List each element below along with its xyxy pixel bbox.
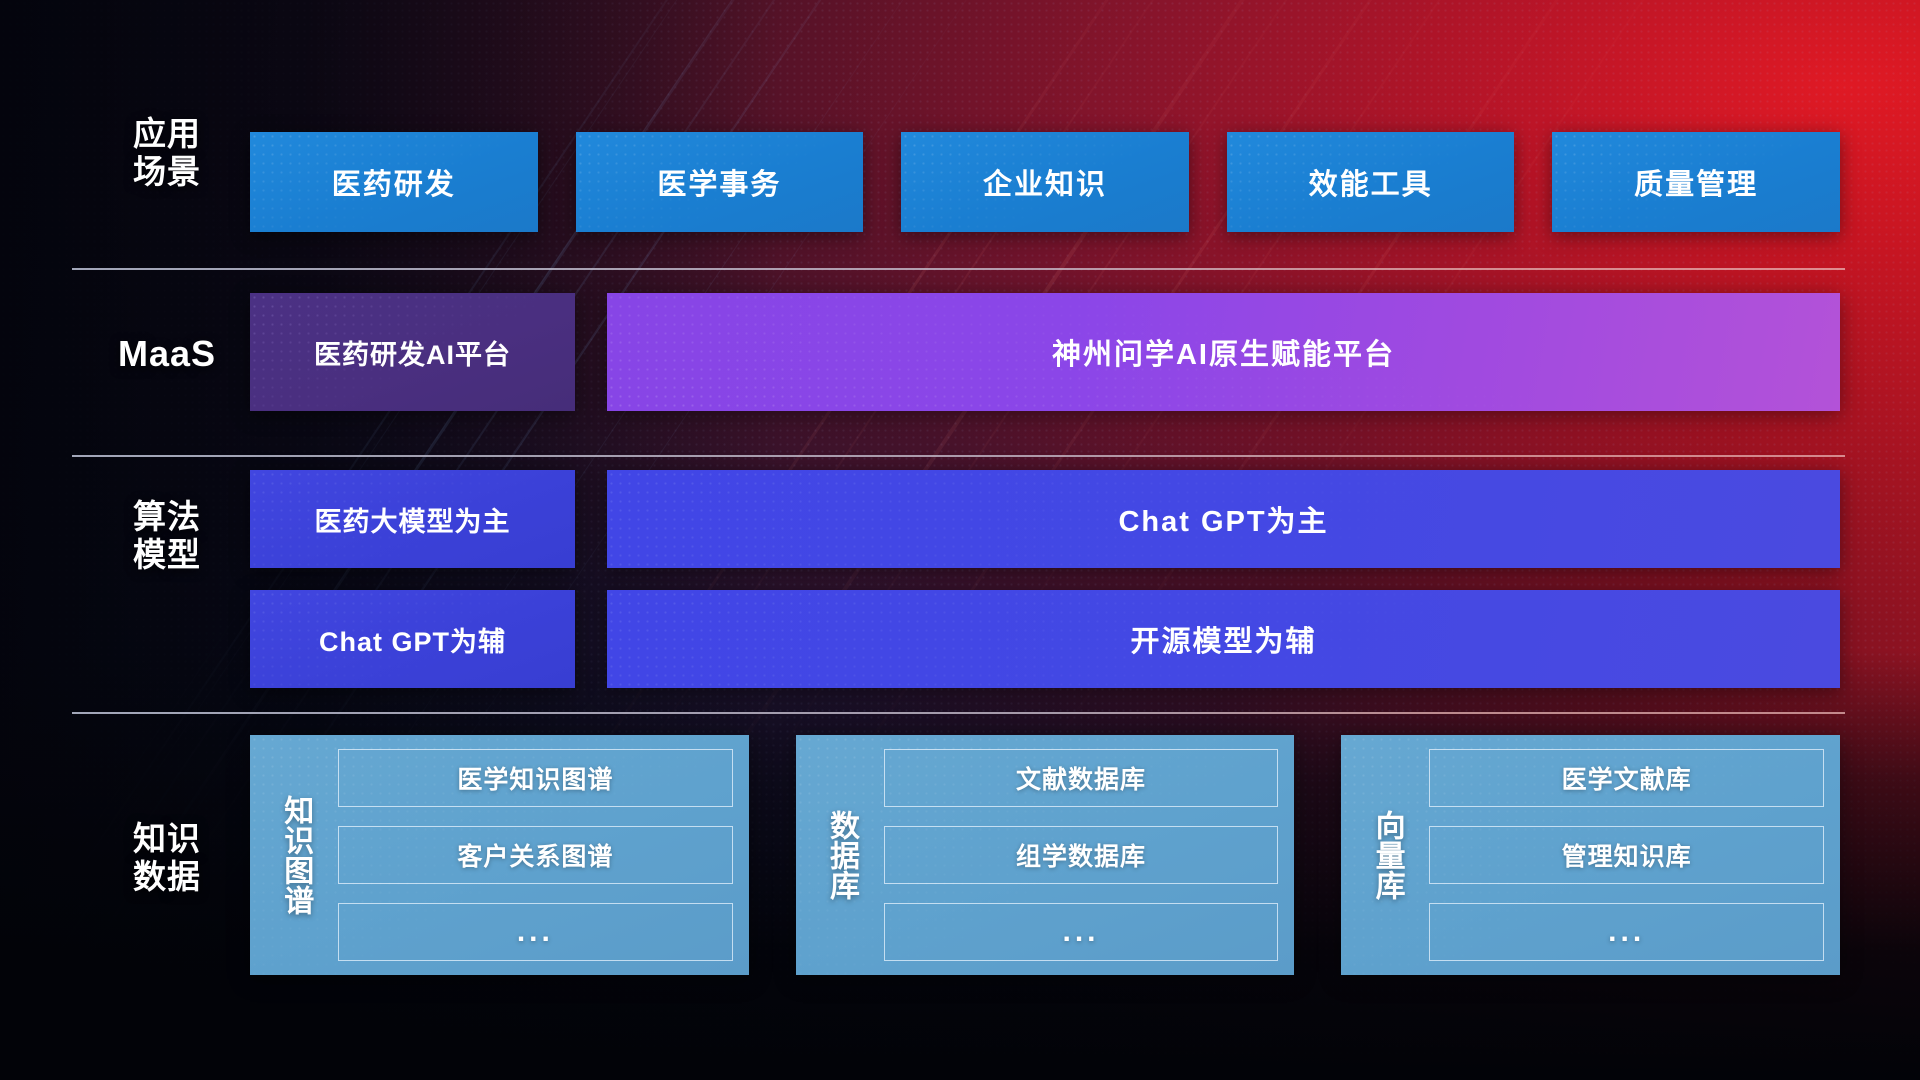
knowledge-panel-vertical-label: 知识图谱 bbox=[264, 749, 326, 961]
knowledge-item-list: 医学知识图谱 客户关系图谱 ... bbox=[326, 749, 733, 961]
algorithm-card-label: Chat GPT为辅 bbox=[319, 620, 506, 659]
maas-card-medicine-ai-platform[interactable]: 医药研发AI平台 bbox=[250, 293, 575, 411]
knowledge-panel-vertical-label: 向量库 bbox=[1355, 749, 1417, 961]
knowledge-item-label: 客户关系图谱 bbox=[457, 837, 613, 873]
algorithm-row: 医药大模型为主 Chat GPT为主 Chat GPT为辅 开源模型为辅 bbox=[250, 470, 1840, 688]
knowledge-panel-vector-store: 向量库 医学文献库 管理知识库 ... bbox=[1341, 735, 1840, 975]
knowledge-item-label: ... bbox=[1063, 915, 1100, 949]
knowledge-item-label: 医学文献库 bbox=[1562, 760, 1692, 796]
knowledge-item-label: 医学知识图谱 bbox=[457, 760, 613, 796]
knowledge-item[interactable]: 医学文献库 bbox=[1429, 749, 1824, 807]
maas-row: 医药研发AI平台 神州问学AI原生赋能平台 bbox=[250, 293, 1840, 411]
knowledge-item[interactable]: 医学知识图谱 bbox=[338, 749, 733, 807]
algorithm-card-label: 开源模型为辅 bbox=[1130, 618, 1316, 660]
knowledge-panel-vertical-label: 数据库 bbox=[810, 749, 872, 961]
maas-card-label: 医药研发AI平台 bbox=[314, 333, 511, 372]
knowledge-panel-vertical-label-text: 向量库 bbox=[1368, 810, 1405, 900]
knowledge-item-label: ... bbox=[517, 915, 554, 949]
maas-card-label: 神州问学AI原生赋能平台 bbox=[1052, 331, 1395, 373]
application-card-label: 质量管理 bbox=[1634, 161, 1758, 203]
row-label-knowledge: 知识 数据 bbox=[72, 820, 262, 897]
row-label-line: 模型 bbox=[72, 536, 262, 574]
application-card-medicine-rnd[interactable]: 医药研发 bbox=[250, 132, 538, 232]
knowledge-item[interactable]: 客户关系图谱 bbox=[338, 826, 733, 884]
algorithm-card-chatgpt-primary[interactable]: Chat GPT为主 bbox=[607, 470, 1840, 568]
knowledge-panel-knowledge-graph: 知识图谱 医学知识图谱 客户关系图谱 ... bbox=[250, 735, 749, 975]
row-label-maas: MaaS bbox=[72, 333, 262, 375]
row-label-line: 数据 bbox=[72, 858, 262, 896]
algorithm-card-label: 医药大模型为主 bbox=[315, 500, 511, 539]
row-label-algorithm: 算法 模型 bbox=[72, 498, 262, 575]
knowledge-item-label: 文献数据库 bbox=[1016, 760, 1146, 796]
knowledge-item-label: ... bbox=[1608, 915, 1645, 949]
row-label-applications: 应用 场景 bbox=[72, 115, 262, 192]
algorithm-card-medicine-large-model[interactable]: 医药大模型为主 bbox=[250, 470, 575, 568]
maas-card-shenzhou-platform[interactable]: 神州问学AI原生赋能平台 bbox=[607, 293, 1840, 411]
knowledge-row: 知识图谱 医学知识图谱 客户关系图谱 ... 数据库 文献数据库 bbox=[250, 735, 1840, 975]
knowledge-item-more[interactable]: ... bbox=[338, 903, 733, 961]
divider-applications-maas bbox=[72, 268, 1845, 270]
application-card-quality-management[interactable]: 质量管理 bbox=[1552, 132, 1840, 232]
application-card-label: 效能工具 bbox=[1309, 161, 1433, 203]
divider-maas-algorithm bbox=[72, 455, 1845, 457]
divider-algorithm-knowledge bbox=[72, 712, 1845, 714]
knowledge-item-list: 医学文献库 管理知识库 ... bbox=[1417, 749, 1824, 961]
application-card-label: 医学事务 bbox=[657, 161, 781, 203]
application-card-enterprise-knowledge[interactable]: 企业知识 bbox=[901, 132, 1189, 232]
architecture-diagram: 应用 场景 医药研发 医学事务 企业知识 效能工具 质量管理 MaaS 医药研发… bbox=[0, 0, 1920, 1080]
algorithm-line-primary: 医药大模型为主 Chat GPT为主 bbox=[250, 470, 1840, 568]
row-label-line: 知识 bbox=[72, 820, 262, 858]
algorithm-card-label: Chat GPT为主 bbox=[1118, 498, 1328, 540]
knowledge-panel-database: 数据库 文献数据库 组学数据库 ... bbox=[796, 735, 1295, 975]
knowledge-item-more[interactable]: ... bbox=[884, 903, 1279, 961]
applications-row: 医药研发 医学事务 企业知识 效能工具 质量管理 bbox=[250, 132, 1840, 232]
knowledge-panel-vertical-label-text: 知识图谱 bbox=[277, 795, 314, 915]
knowledge-item[interactable]: 文献数据库 bbox=[884, 749, 1279, 807]
application-card-label: 企业知识 bbox=[983, 161, 1107, 203]
application-card-efficiency-tools[interactable]: 效能工具 bbox=[1227, 132, 1515, 232]
row-label-line: 算法 bbox=[72, 498, 262, 536]
row-label-line: 应用 bbox=[72, 115, 262, 153]
knowledge-item-list: 文献数据库 组学数据库 ... bbox=[872, 749, 1279, 961]
knowledge-item-label: 组学数据库 bbox=[1016, 837, 1146, 873]
knowledge-item-label: 管理知识库 bbox=[1562, 837, 1692, 873]
knowledge-item[interactable]: 组学数据库 bbox=[884, 826, 1279, 884]
application-card-medical-affairs[interactable]: 医学事务 bbox=[576, 132, 864, 232]
knowledge-item[interactable]: 管理知识库 bbox=[1429, 826, 1824, 884]
algorithm-card-opensource-secondary[interactable]: 开源模型为辅 bbox=[607, 590, 1840, 688]
knowledge-item-more[interactable]: ... bbox=[1429, 903, 1824, 961]
application-card-label: 医药研发 bbox=[332, 161, 456, 203]
knowledge-panel-vertical-label-text: 数据库 bbox=[822, 810, 859, 900]
row-label-line: MaaS bbox=[72, 333, 262, 375]
algorithm-line-secondary: Chat GPT为辅 开源模型为辅 bbox=[250, 590, 1840, 688]
row-label-line: 场景 bbox=[72, 153, 262, 191]
algorithm-card-chatgpt-secondary[interactable]: Chat GPT为辅 bbox=[250, 590, 575, 688]
